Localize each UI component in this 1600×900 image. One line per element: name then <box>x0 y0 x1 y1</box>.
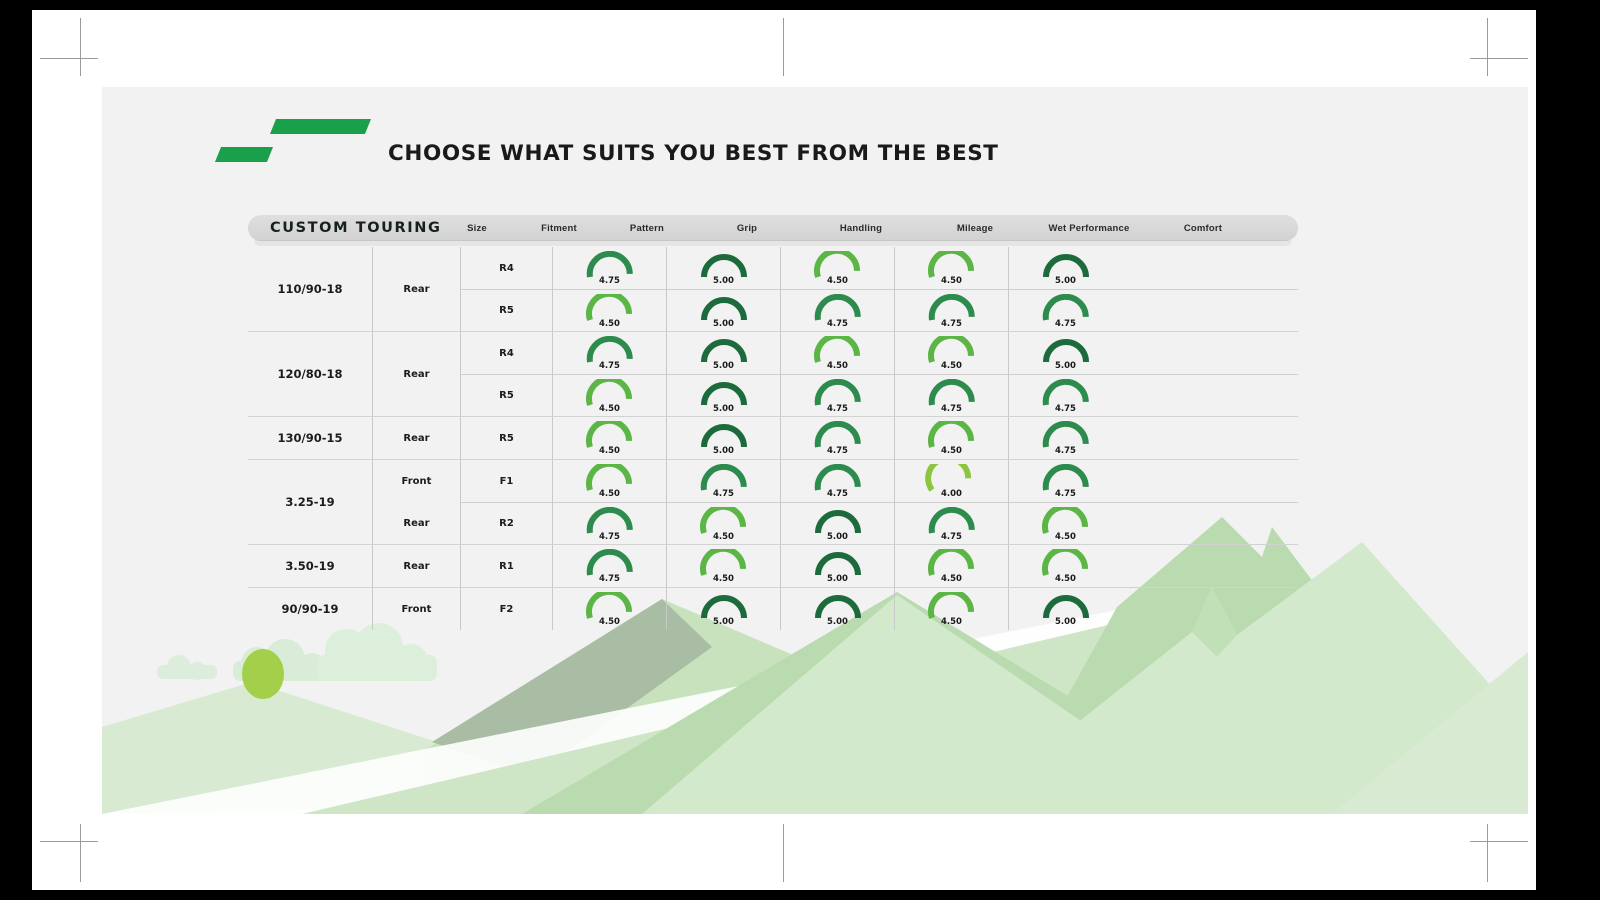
cell-mileage: 4.50 <box>780 332 894 374</box>
cell-grip: 4.50 <box>552 375 666 416</box>
cell-wet-performance: 4.00 <box>894 460 1008 502</box>
cell-pattern: F1 <box>460 460 552 502</box>
cell-comfort: 4.75 <box>1008 290 1122 331</box>
cell-wet-performance: 4.50 <box>894 545 1008 587</box>
slide-canvas: CHOOSE WHAT SUITS YOU BEST FROM THE BEST… <box>102 87 1528 814</box>
table-row: R54.505.004.754.754.75 <box>460 374 1298 416</box>
table-row: F14.504.754.754.004.75 <box>460 460 1298 502</box>
cell-wet-performance: 4.50 <box>894 417 1008 459</box>
cell-grip: 4.75 <box>552 503 666 544</box>
table-size-group: 3.50-19RearR14.754.505.004.504.50 <box>248 544 1298 587</box>
table-header-row: CUSTOM TOURING Size Fitment Pattern Grip… <box>248 215 1298 241</box>
score-value: 4.50 <box>581 319 639 329</box>
score-gauge: 4.75 <box>809 379 867 413</box>
score-value: 5.00 <box>695 276 753 286</box>
cell-handling: 5.00 <box>666 332 780 374</box>
cell-comfort: 5.00 <box>1008 588 1122 630</box>
score-value: 5.00 <box>1037 617 1095 627</box>
column-header-comfort: Comfort <box>1146 223 1260 234</box>
score-value: 5.00 <box>695 319 753 329</box>
table-size-group: 130/90-15RearR54.505.004.754.504.75 <box>248 416 1298 459</box>
crop-mark-br-v <box>1487 824 1488 882</box>
table-rows: R54.505.004.754.504.75 <box>460 417 1298 459</box>
cell-wet-performance: 4.50 <box>894 588 1008 630</box>
score-value: 5.00 <box>1037 276 1095 286</box>
print-sheet: CHOOSE WHAT SUITS YOU BEST FROM THE BEST… <box>32 10 1536 890</box>
sun-icon <box>242 649 284 699</box>
score-gauge: 4.50 <box>923 549 981 583</box>
crop-mark-bl-v <box>80 824 81 882</box>
score-value: 4.50 <box>809 361 867 371</box>
cell-grip: 4.50 <box>552 588 666 630</box>
score-value: 4.75 <box>581 276 639 286</box>
table-body: 110/90-18RearR44.755.004.504.505.00R54.5… <box>248 247 1298 630</box>
score-value: 4.75 <box>923 319 981 329</box>
cell-handling: 4.50 <box>666 503 780 544</box>
score-value: 4.50 <box>923 446 981 456</box>
score-gauge: 4.75 <box>809 464 867 498</box>
score-gauge: 5.00 <box>695 336 753 370</box>
score-value: 4.75 <box>809 319 867 329</box>
table-row: R54.505.004.754.754.75 <box>460 289 1298 331</box>
cell-wet-performance: 4.50 <box>894 332 1008 374</box>
score-gauge: 4.75 <box>581 549 639 583</box>
column-header-fitment: Fitment <box>514 223 604 234</box>
score-gauge: 5.00 <box>695 592 753 626</box>
crop-mark-bl-h <box>40 841 98 842</box>
score-gauge: 4.75 <box>581 336 639 370</box>
score-gauge: 4.75 <box>695 464 753 498</box>
score-gauge: 5.00 <box>1037 592 1095 626</box>
score-gauge: 4.75 <box>581 507 639 541</box>
cell-pattern: R2 <box>460 503 552 544</box>
cell-wet-performance: 4.50 <box>894 247 1008 289</box>
cell-pattern: R5 <box>460 290 552 331</box>
score-value: 4.50 <box>923 617 981 627</box>
cell-handling: 4.75 <box>666 460 780 502</box>
cell-grip: 4.75 <box>552 332 666 374</box>
score-value: 4.50 <box>695 532 753 542</box>
score-gauge: 4.75 <box>923 379 981 413</box>
column-header-pattern: Pattern <box>604 223 690 234</box>
crop-mark-br-h <box>1470 841 1528 842</box>
score-value: 4.50 <box>581 489 639 499</box>
cell-mileage: 5.00 <box>780 545 894 587</box>
score-gauge: 4.75 <box>1037 421 1095 455</box>
score-value: 4.75 <box>695 489 753 499</box>
cell-fitment-stack: Rear <box>372 417 460 459</box>
table-row: R14.754.505.004.504.50 <box>460 545 1298 587</box>
column-header-grip: Grip <box>690 223 804 234</box>
cell-mileage: 4.75 <box>780 290 894 331</box>
score-value: 4.75 <box>1037 489 1095 499</box>
cell-handling: 5.00 <box>666 417 780 459</box>
score-value: 4.75 <box>1037 446 1095 456</box>
score-value: 5.00 <box>1037 361 1095 371</box>
score-value: 4.75 <box>1037 404 1095 414</box>
score-gauge: 4.50 <box>923 251 981 285</box>
cell-size: 110/90-18 <box>248 247 372 331</box>
column-header-mileage: Mileage <box>918 223 1032 234</box>
cell-mileage: 5.00 <box>780 503 894 544</box>
score-gauge: 4.50 <box>809 251 867 285</box>
score-gauge: 4.50 <box>581 592 639 626</box>
table-row: R44.755.004.504.505.00 <box>460 332 1298 374</box>
cell-comfort: 4.75 <box>1008 375 1122 416</box>
score-gauge: 5.00 <box>695 379 753 413</box>
score-gauge: 4.50 <box>695 507 753 541</box>
cell-pattern: R1 <box>460 545 552 587</box>
score-gauge: 4.50 <box>581 294 639 328</box>
score-value: 4.50 <box>581 446 639 456</box>
score-value: 4.75 <box>581 361 639 371</box>
cell-comfort: 4.50 <box>1008 545 1122 587</box>
column-header-size: Size <box>440 223 514 234</box>
score-gauge: 4.50 <box>695 549 753 583</box>
cell-pattern: R5 <box>460 417 552 459</box>
cell-size: 3.50-19 <box>248 545 372 587</box>
cell-fitment: Front <box>372 588 460 630</box>
column-header-wet-performance: Wet Performance <box>1032 223 1146 234</box>
table-size-group: 90/90-19FrontF24.505.005.004.505.00 <box>248 587 1298 630</box>
cell-fitment-stack: Rear <box>372 545 460 587</box>
score-value: 4.50 <box>581 404 639 414</box>
score-value: 4.75 <box>581 532 639 542</box>
cell-fitment: Rear <box>372 502 460 544</box>
score-value: 4.75 <box>923 532 981 542</box>
score-gauge: 4.75 <box>1037 294 1095 328</box>
cell-mileage: 4.50 <box>780 247 894 289</box>
brand-slash-logo-bottom <box>215 147 273 162</box>
cell-wet-performance: 4.75 <box>894 375 1008 416</box>
table-rows: R44.755.004.504.505.00R54.505.004.754.75… <box>460 247 1298 331</box>
cell-handling: 5.00 <box>666 588 780 630</box>
score-gauge: 5.00 <box>695 251 753 285</box>
cell-fitment: Front <box>372 460 460 502</box>
score-gauge: 4.75 <box>923 294 981 328</box>
table-row: R44.755.004.504.505.00 <box>460 247 1298 289</box>
score-value: 5.00 <box>695 361 753 371</box>
cell-mileage: 4.75 <box>780 417 894 459</box>
score-value: 5.00 <box>695 404 753 414</box>
cell-size: 130/90-15 <box>248 417 372 459</box>
table-rows: R44.755.004.504.505.00R54.505.004.754.75… <box>460 332 1298 416</box>
score-value: 4.50 <box>923 361 981 371</box>
cell-handling: 5.00 <box>666 290 780 331</box>
cell-pattern: R4 <box>460 247 552 289</box>
table-size-group: 120/80-18RearR44.755.004.504.505.00R54.5… <box>248 331 1298 416</box>
cell-fitment-stack: FrontRear <box>372 460 460 544</box>
score-value: 5.00 <box>809 532 867 542</box>
cell-comfort: 4.75 <box>1008 460 1122 502</box>
crop-mark-tl-v <box>80 18 81 76</box>
cell-comfort: 5.00 <box>1008 332 1122 374</box>
cell-mileage: 4.75 <box>780 460 894 502</box>
table-size-group: 110/90-18RearR44.755.004.504.505.00R54.5… <box>248 247 1298 331</box>
table-row: R24.754.505.004.754.50 <box>460 502 1298 544</box>
score-value: 4.50 <box>1037 574 1095 584</box>
score-gauge: 5.00 <box>1037 336 1095 370</box>
crop-mark-top-center <box>783 18 784 76</box>
score-gauge: 5.00 <box>809 592 867 626</box>
score-value: 4.50 <box>923 276 981 286</box>
cell-size: 90/90-19 <box>248 588 372 630</box>
cell-wet-performance: 4.75 <box>894 290 1008 331</box>
table-row: R54.505.004.754.504.75 <box>460 417 1298 459</box>
cell-size: 3.25-19 <box>248 460 372 544</box>
score-gauge: 4.50 <box>581 464 639 498</box>
score-value: 4.75 <box>809 404 867 414</box>
score-value: 4.75 <box>1037 319 1095 329</box>
score-value: 4.75 <box>809 489 867 499</box>
score-gauge: 4.50 <box>581 379 639 413</box>
cell-fitment-stack: Rear <box>372 332 460 416</box>
score-gauge: 4.75 <box>1037 379 1095 413</box>
score-gauge: 4.75 <box>1037 464 1095 498</box>
crop-mark-tr-v <box>1487 18 1488 76</box>
cell-mileage: 5.00 <box>780 588 894 630</box>
score-gauge: 4.50 <box>581 421 639 455</box>
cell-fitment-stack: Front <box>372 588 460 630</box>
cell-handling: 5.00 <box>666 247 780 289</box>
score-gauge: 4.50 <box>923 336 981 370</box>
score-gauge: 4.00 <box>923 464 981 498</box>
brand-slash-logo-top <box>270 119 371 134</box>
score-gauge: 4.50 <box>923 421 981 455</box>
score-gauge: 5.00 <box>695 294 753 328</box>
crop-mark-bottom-center <box>783 824 784 882</box>
cell-fitment: Rear <box>372 545 460 587</box>
score-value: 4.75 <box>581 574 639 584</box>
score-value: 4.75 <box>809 446 867 456</box>
cell-pattern: R4 <box>460 332 552 374</box>
cell-comfort: 4.75 <box>1008 417 1122 459</box>
score-value: 5.00 <box>695 446 753 456</box>
cell-size: 120/80-18 <box>248 332 372 416</box>
cell-pattern: R5 <box>460 375 552 416</box>
cell-grip: 4.50 <box>552 460 666 502</box>
column-header-handling: Handling <box>804 223 918 234</box>
cell-fitment: Rear <box>372 247 460 331</box>
cell-fitment: Rear <box>372 417 460 459</box>
cell-pattern: F2 <box>460 588 552 630</box>
score-value: 4.75 <box>923 404 981 414</box>
cell-fitment: Rear <box>372 332 460 416</box>
cell-handling: 5.00 <box>666 375 780 416</box>
score-value: 5.00 <box>809 617 867 627</box>
comparison-table: CUSTOM TOURING Size Fitment Pattern Grip… <box>248 215 1298 630</box>
score-value: 4.00 <box>923 489 981 499</box>
score-gauge: 4.75 <box>923 507 981 541</box>
score-gauge: 4.50 <box>1037 507 1095 541</box>
cell-grip: 4.75 <box>552 545 666 587</box>
crop-mark-tr-h <box>1470 58 1528 59</box>
score-gauge: 4.50 <box>809 336 867 370</box>
score-value: 4.50 <box>923 574 981 584</box>
score-gauge: 4.75 <box>809 294 867 328</box>
score-gauge: 4.50 <box>1037 549 1095 583</box>
score-value: 4.50 <box>581 617 639 627</box>
page-title: CHOOSE WHAT SUITS YOU BEST FROM THE BEST <box>388 141 999 166</box>
score-gauge: 5.00 <box>695 421 753 455</box>
crop-mark-tl-h <box>40 58 98 59</box>
cell-grip: 4.75 <box>552 247 666 289</box>
score-value: 4.50 <box>695 574 753 584</box>
cell-comfort: 4.50 <box>1008 503 1122 544</box>
cell-wet-performance: 4.75 <box>894 503 1008 544</box>
score-value: 4.50 <box>809 276 867 286</box>
table-rows: R14.754.505.004.504.50 <box>460 545 1298 587</box>
table-rows: F14.504.754.754.004.75R24.754.505.004.75… <box>460 460 1298 544</box>
table-row: F24.505.005.004.505.00 <box>460 588 1298 630</box>
table-rows: F24.505.005.004.505.00 <box>460 588 1298 630</box>
score-gauge: 4.75 <box>581 251 639 285</box>
score-gauge: 5.00 <box>809 507 867 541</box>
cell-fitment-stack: Rear <box>372 247 460 331</box>
category-label: CUSTOM TOURING <box>248 220 440 236</box>
table-size-group: 3.25-19FrontRearF14.504.754.754.004.75R2… <box>248 459 1298 544</box>
score-value: 5.00 <box>695 617 753 627</box>
score-value: 5.00 <box>809 574 867 584</box>
score-gauge: 5.00 <box>1037 251 1095 285</box>
score-gauge: 4.50 <box>923 592 981 626</box>
cell-comfort: 5.00 <box>1008 247 1122 289</box>
cell-grip: 4.50 <box>552 417 666 459</box>
score-value: 4.50 <box>1037 532 1095 542</box>
score-gauge: 5.00 <box>809 549 867 583</box>
score-gauge: 4.75 <box>809 421 867 455</box>
cell-grip: 4.50 <box>552 290 666 331</box>
cell-handling: 4.50 <box>666 545 780 587</box>
cell-mileage: 4.75 <box>780 375 894 416</box>
